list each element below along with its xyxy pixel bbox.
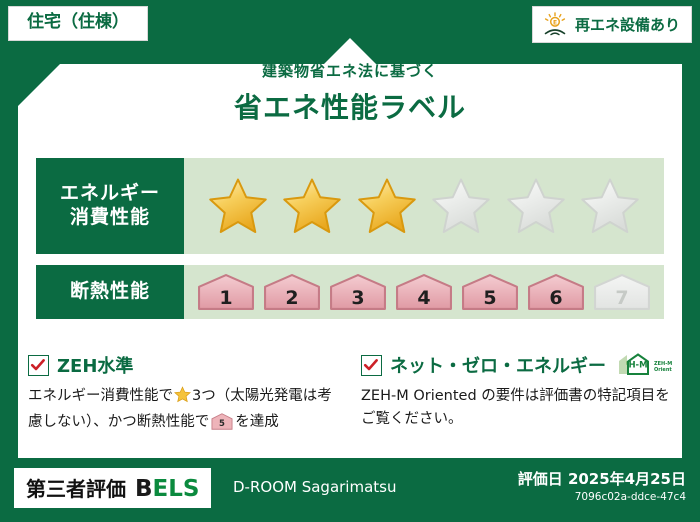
net-zero-note-heading: ネット・ゼロ・エネルギー H-M ZEH-M Oriented bbox=[361, 352, 676, 378]
star-filled-icon bbox=[356, 176, 418, 236]
insulation-level-achieved: 3 bbox=[326, 273, 390, 311]
zeh-m-caption-2: Oriented bbox=[654, 367, 672, 373]
star-rating bbox=[184, 158, 664, 254]
insulation-level-empty: 7 bbox=[590, 273, 654, 311]
insulation-level-scale: 1234567 bbox=[184, 265, 664, 319]
insulation-level-number: 2 bbox=[285, 287, 298, 309]
zeh-m-house-logo: H-M ZEH-M Oriented bbox=[616, 352, 672, 378]
energy-performance-label: エネルギー 消費性能 bbox=[36, 158, 184, 254]
insulation-performance-label: 断熱性能 bbox=[36, 265, 184, 319]
insulation-level-achieved: 6 bbox=[524, 273, 588, 311]
bels-logo-b: B bbox=[135, 476, 153, 502]
notes-section: ZEH水準 エネルギー消費性能で3つ（太陽光発電は考慮しない）、かつ断熱性能で5… bbox=[28, 352, 676, 439]
check-icon bbox=[363, 357, 379, 373]
zeh-note-title: ZEH水準 bbox=[57, 352, 133, 378]
energy-label-line1: エネルギー bbox=[60, 182, 160, 206]
insulation-level-number: 3 bbox=[351, 287, 364, 309]
star-filled-icon bbox=[281, 176, 343, 236]
insulation-level-achieved: 2 bbox=[260, 273, 324, 311]
net-zero-note-title: ネット・ゼロ・エネルギー bbox=[390, 352, 606, 378]
insulation-level-achieved: 4 bbox=[392, 273, 456, 311]
insulation-level-number: 5 bbox=[483, 287, 496, 309]
bels-logo-els: ELS bbox=[153, 476, 200, 502]
energy-performance-row: エネルギー 消費性能 bbox=[36, 158, 664, 254]
insulation-level-number: 7 bbox=[615, 287, 628, 309]
insulation-level-number: 6 bbox=[549, 287, 562, 309]
performance-rows: エネルギー 消費性能 断熱性能 1234567 bbox=[36, 158, 664, 330]
label-title-block: 建築物省エネ法に基づく 省エネ性能ラベル bbox=[0, 60, 700, 126]
evaluation-date-value: 2025年4月25日 bbox=[568, 470, 686, 488]
energy-label-line2: 消費性能 bbox=[70, 206, 150, 230]
insulation-level-achieved: 5 bbox=[458, 273, 522, 311]
evaluation-date: 評価日 2025年4月25日 bbox=[518, 468, 686, 489]
star-filled-icon bbox=[207, 176, 269, 236]
housing-type-tag: 住宅（住棟） bbox=[8, 6, 148, 41]
bels-certification-mark: 第三者評価 BELS bbox=[14, 468, 211, 508]
evaluation-id: 7096c02a-ddce-47c4 bbox=[575, 491, 686, 503]
evaluation-date-label: 評価日 bbox=[518, 470, 563, 488]
net-zero-checkbox bbox=[361, 355, 382, 376]
third-party-eval-text: 第三者評価 bbox=[26, 473, 126, 502]
insulation-performance-row: 断熱性能 1234567 bbox=[36, 265, 664, 319]
star-icon bbox=[174, 391, 191, 407]
check-icon bbox=[30, 357, 46, 373]
zeh-body-part1: エネルギー消費性能で bbox=[28, 388, 173, 404]
label-footer: 第三者評価 BELS D-ROOM Sagarimatsu 評価日 2025年4… bbox=[0, 460, 700, 522]
sun-renewable-icon: E bbox=[542, 12, 568, 36]
zeh-body-part3: を達成 bbox=[235, 414, 279, 430]
zeh-note-heading: ZEH水準 bbox=[28, 352, 343, 378]
star-empty-icon bbox=[579, 176, 641, 236]
insulation-level-number: 1 bbox=[219, 287, 232, 309]
title-subtitle: 建築物省エネ法に基づく bbox=[0, 60, 700, 81]
net-zero-note-body: ZEH-M Oriented の要件は評価書の特記項目をご覧ください。 bbox=[361, 385, 676, 432]
renewable-badge-label: 再エネ設備あり bbox=[575, 14, 680, 35]
star-empty-icon bbox=[430, 176, 492, 236]
zeh-m-mark-text: H-M bbox=[628, 361, 647, 371]
property-name: D-ROOM Sagarimatsu bbox=[233, 478, 396, 496]
insulation-label-text: 断熱性能 bbox=[70, 280, 150, 304]
house-level-number: 5 bbox=[219, 420, 225, 430]
zeh-note-column: ZEH水準 エネルギー消費性能で3つ（太陽光発電は考慮しない）、かつ断熱性能で5… bbox=[28, 352, 343, 439]
insulation-level-achieved: 1 bbox=[194, 273, 258, 311]
renewable-energy-badge: E 再エネ設備あり bbox=[532, 6, 692, 43]
net-zero-note-column: ネット・ゼロ・エネルギー H-M ZEH-M Oriented ZEH-M Or… bbox=[361, 352, 676, 439]
star-empty-icon bbox=[505, 176, 567, 236]
title-main: 省エネ性能ラベル bbox=[0, 86, 700, 126]
insulation-level-number: 4 bbox=[417, 287, 430, 309]
zeh-note-body: エネルギー消費性能で3つ（太陽光発電は考慮しない）、かつ断熱性能で5を達成 bbox=[28, 385, 343, 439]
bels-logo: BELS bbox=[135, 476, 199, 502]
energy-performance-label: 住宅（住棟） E 再エネ設備あり 建築物省エネ法に基づく 省エネ性能ラベル bbox=[0, 0, 700, 522]
zeh-checkbox bbox=[28, 355, 49, 376]
house-level-icon: 5 bbox=[211, 418, 233, 434]
svg-text:E: E bbox=[553, 19, 557, 26]
